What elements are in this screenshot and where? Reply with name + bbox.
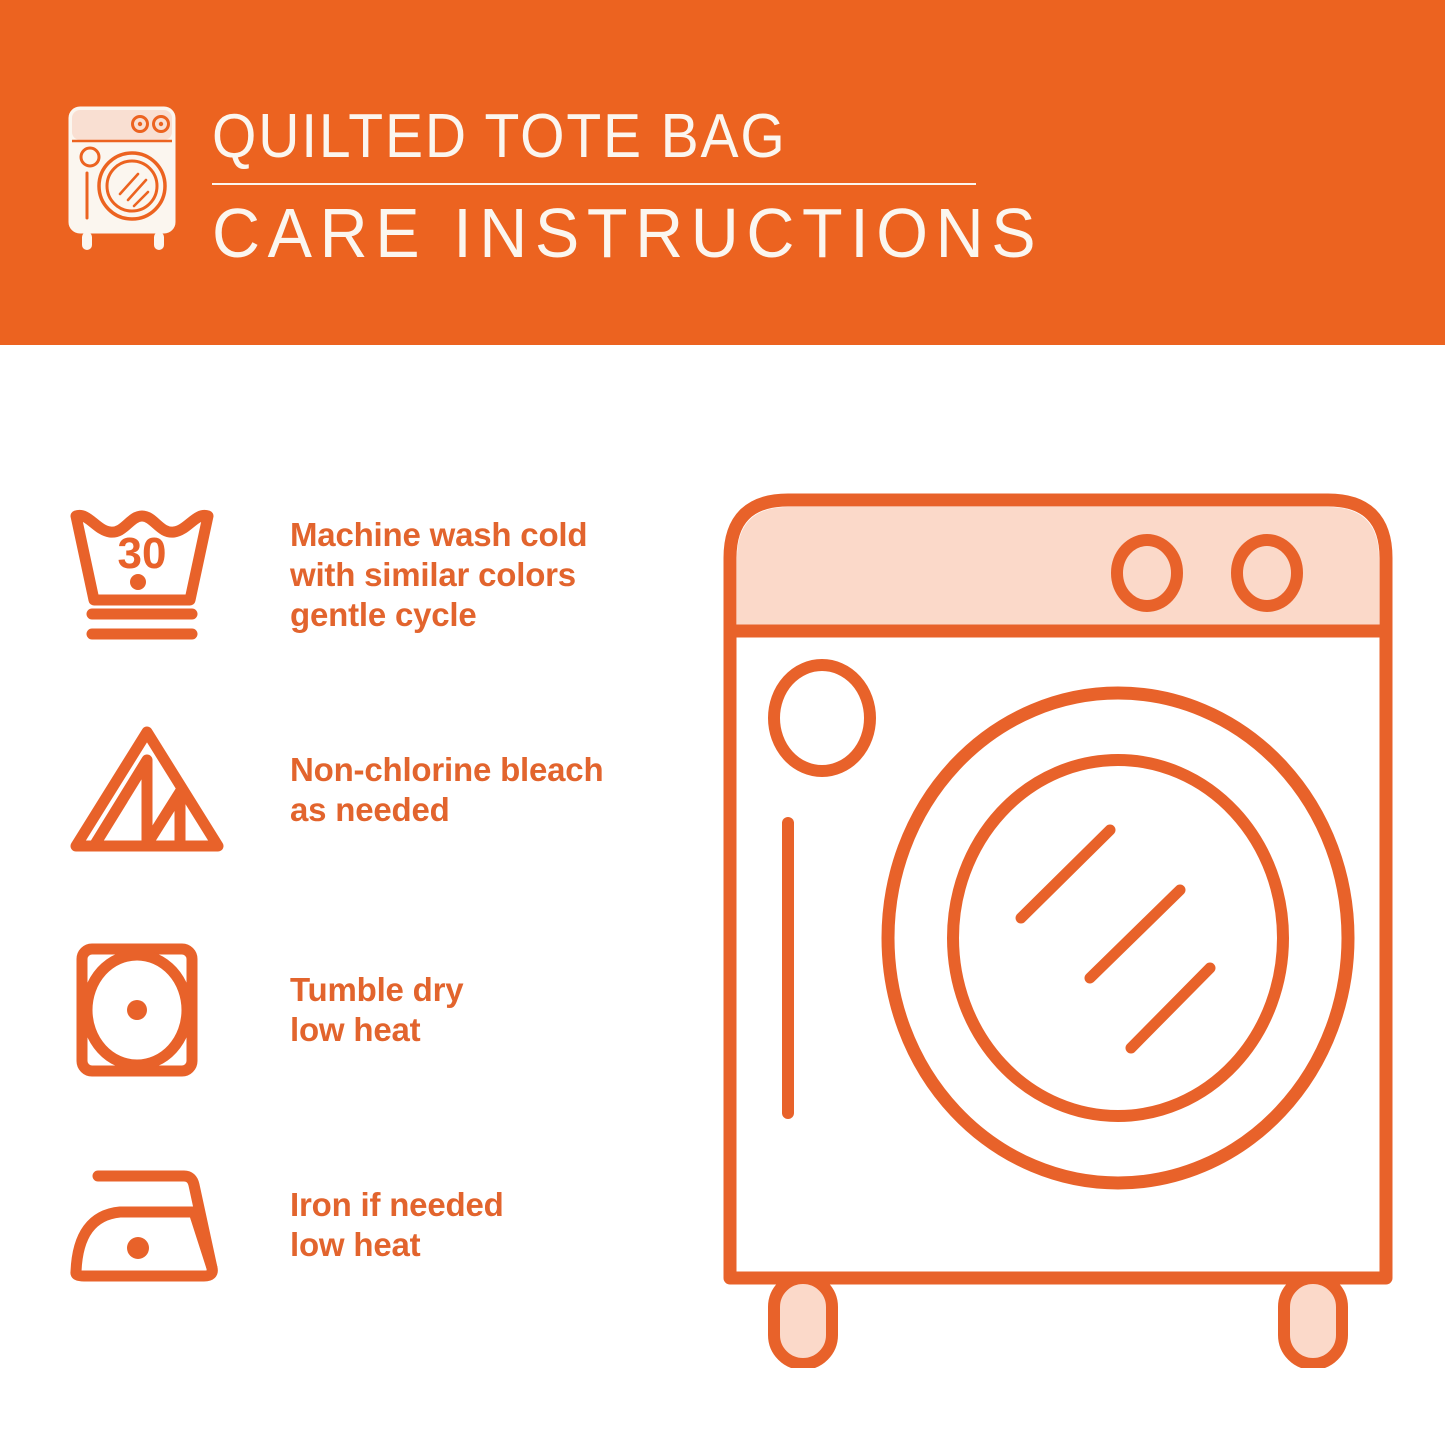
care-label-line: gentle cycle (290, 595, 587, 635)
care-label-line: with similar colors (290, 555, 587, 595)
care-label-machine-wash: Machine wash cold with similar colors ge… (290, 515, 587, 635)
care-row-iron: Iron if needed low heat (62, 1150, 682, 1300)
title-divider (212, 183, 976, 185)
care-instructions-infographic: QUILTED TOTE BAG CARE INSTRUCTIONS 30 (0, 0, 1445, 1445)
care-row-bleach: Non-chlorine bleach as needed (62, 715, 682, 865)
header-text-block: QUILTED TOTE BAG CARE INSTRUCTIONS (212, 104, 1002, 271)
header-band: QUILTED TOTE BAG CARE INSTRUCTIONS (0, 0, 1445, 345)
tumble-dry-low-icon (62, 935, 242, 1085)
care-label-line: Iron if needed (290, 1185, 504, 1225)
care-label-line: Non-chlorine bleach (290, 750, 603, 790)
care-label-line: low heat (290, 1010, 463, 1050)
care-label-bleach: Non-chlorine bleach as needed (290, 750, 603, 830)
care-label-line: Machine wash cold (290, 515, 587, 555)
page-title: QUILTED TOTE BAG (212, 104, 939, 170)
section-title: CARE INSTRUCTIONS (212, 195, 963, 271)
care-row-tumble-dry: Tumble dry low heat (62, 935, 682, 1085)
care-label-line: as needed (290, 790, 603, 830)
washing-machine-icon (62, 100, 190, 255)
care-label-line: low heat (290, 1225, 504, 1265)
care-label-iron: Iron if needed low heat (290, 1185, 504, 1265)
iron-low-heat-icon (62, 1160, 242, 1290)
non-chlorine-bleach-triangle-icon (62, 720, 242, 860)
washing-machine-illustration (718, 478, 1398, 1368)
care-label-tumble-dry: Tumble dry low heat (290, 970, 463, 1050)
svg-text:30: 30 (118, 529, 167, 578)
care-label-line: Tumble dry (290, 970, 463, 1010)
care-row-machine-wash: 30 Machine wash cold with similar colors… (62, 500, 682, 650)
wash-basin-30-gentle-icon: 30 (62, 500, 242, 650)
